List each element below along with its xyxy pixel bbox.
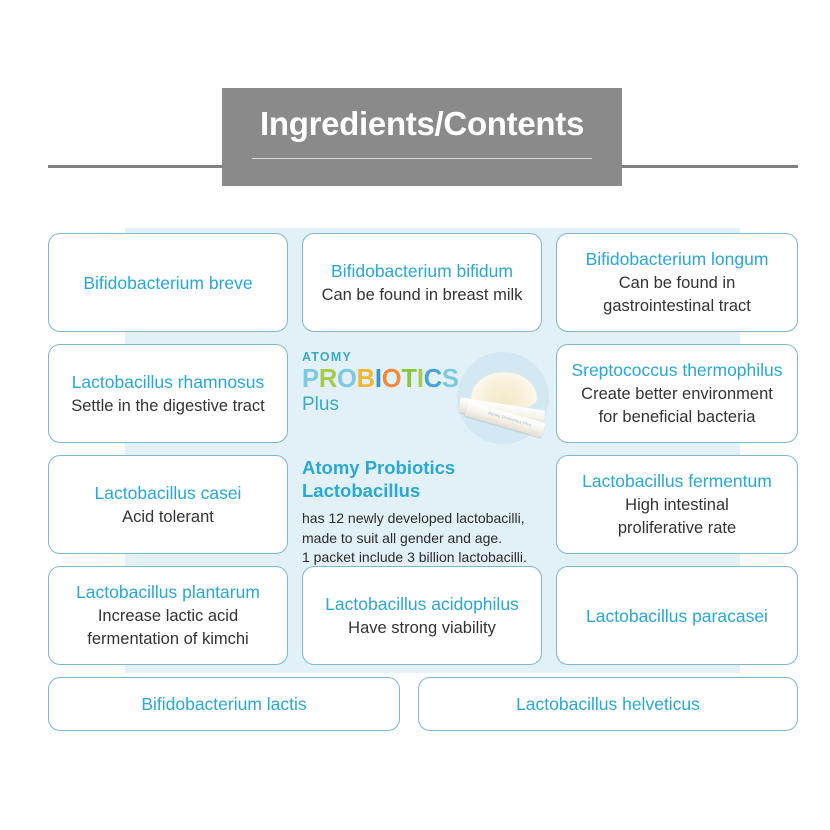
ingredient-description: Settle in the digestive tract (71, 395, 265, 418)
product-title-line1: Atomy Probiotics (302, 456, 552, 479)
ingredient-card-bifidobacterium-longum[interactable]: Bifidobacterium longum Can be found inga… (556, 233, 798, 332)
ingredient-title: Bifidobacterium lactis (141, 692, 306, 716)
ingredients-grid: Bifidobacterium breve Bifidobacterium bi… (0, 0, 830, 830)
product-body-line3: 1 packet include 3 billion lactobacilli. (302, 548, 552, 568)
brand-name: ATOMY (302, 350, 462, 364)
ingredient-description: Can be found in breast milk (322, 284, 523, 307)
product-photo: Atomy Probiotics Plus (445, 350, 557, 450)
ingredient-title: Lactobacillus rhamnosus (72, 370, 265, 394)
ingredient-description: Increase lactic acidfermentation of kimc… (87, 605, 248, 651)
ingredient-card-bifidobacterium-bifidum[interactable]: Bifidobacterium bifidum Can be found in … (302, 233, 542, 332)
product-description-block: Atomy Probiotics Lactobacillus has 12 ne… (302, 456, 552, 568)
wordmark-letter-4: I (375, 365, 382, 393)
ingredient-title: Sreptococcus thermophilus (571, 358, 782, 382)
product-body-line2: made to suit all gender and age. (302, 529, 552, 549)
ingredient-card-lactobacillus-fermentum[interactable]: Lactobacillus fermentum High intestinalp… (556, 455, 798, 554)
ingredient-card-sreptococcus-thermophilus[interactable]: Sreptococcus thermophilus Create better … (556, 344, 798, 443)
ingredient-title: Bifidobacterium breve (83, 271, 252, 295)
ingredient-title: Lactobacillus acidophilus (325, 592, 519, 616)
wordmark-letter-2: O (337, 365, 357, 393)
product-logo: ATOMY PROBIOTICS Plus (302, 350, 462, 416)
ingredient-card-lactobacillus-paracasei[interactable]: Lactobacillus paracasei (556, 566, 798, 665)
ingredient-title: Lactobacillus plantarum (76, 580, 260, 604)
ingredient-card-lactobacillus-rhamnosus[interactable]: Lactobacillus rhamnosus Settle in the di… (48, 344, 288, 443)
wordmark-letter-3: B (357, 365, 375, 393)
product-title-line2: Lactobacillus (302, 479, 552, 502)
ingredient-description: Create better environmentfor beneficial … (581, 383, 773, 429)
ingredient-card-lactobacillus-casei[interactable]: Lactobacillus casei Acid tolerant (48, 455, 288, 554)
ingredient-card-lactobacillus-plantarum[interactable]: Lactobacillus plantarum Increase lactic … (48, 566, 288, 665)
ingredient-title: Bifidobacterium bifidum (331, 259, 513, 283)
wordmark-letter-0: P (302, 365, 319, 393)
product-body-line1: has 12 newly developed lactobacilli, (302, 509, 552, 529)
ingredient-card-lactobacillus-helveticus[interactable]: Lactobacillus helveticus (418, 677, 798, 731)
product-body: has 12 newly developed lactobacilli, mad… (302, 509, 552, 568)
wordmark-letter-1: R (319, 365, 337, 393)
ingredient-description: High intestinalproliferative rate (618, 494, 736, 540)
ingredient-description: Have strong viability (348, 617, 496, 640)
product-wordmark: PROBIOTICS (302, 365, 462, 393)
ingredient-title: Lactobacillus fermentum (582, 469, 772, 493)
wordmark-letter-5: O (382, 365, 402, 393)
product-wordmark-plus: Plus (302, 394, 462, 416)
ingredient-card-bifidobacterium-breve[interactable]: Bifidobacterium breve (48, 233, 288, 332)
ingredient-card-bifidobacterium-lactis[interactable]: Bifidobacterium lactis (48, 677, 400, 731)
ingredient-title: Lactobacillus helveticus (516, 692, 700, 716)
ingredient-card-lactobacillus-acidophilus[interactable]: Lactobacillus acidophilus Have strong vi… (302, 566, 542, 665)
wordmark-letter-7: I (417, 365, 424, 393)
ingredient-title: Lactobacillus paracasei (586, 604, 768, 628)
wordmark-letter-6: T (401, 365, 416, 393)
ingredient-description: Can be found ingastrointestinal tract (603, 272, 751, 318)
wordmark-letter-8: C (424, 365, 442, 393)
ingredient-description: Acid tolerant (122, 506, 214, 529)
product-highlight: ATOMY PROBIOTICS Plus Atomy Probiotics P… (302, 344, 552, 554)
ingredient-title: Lactobacillus casei (95, 481, 242, 505)
ingredient-title: Bifidobacterium longum (586, 247, 769, 271)
